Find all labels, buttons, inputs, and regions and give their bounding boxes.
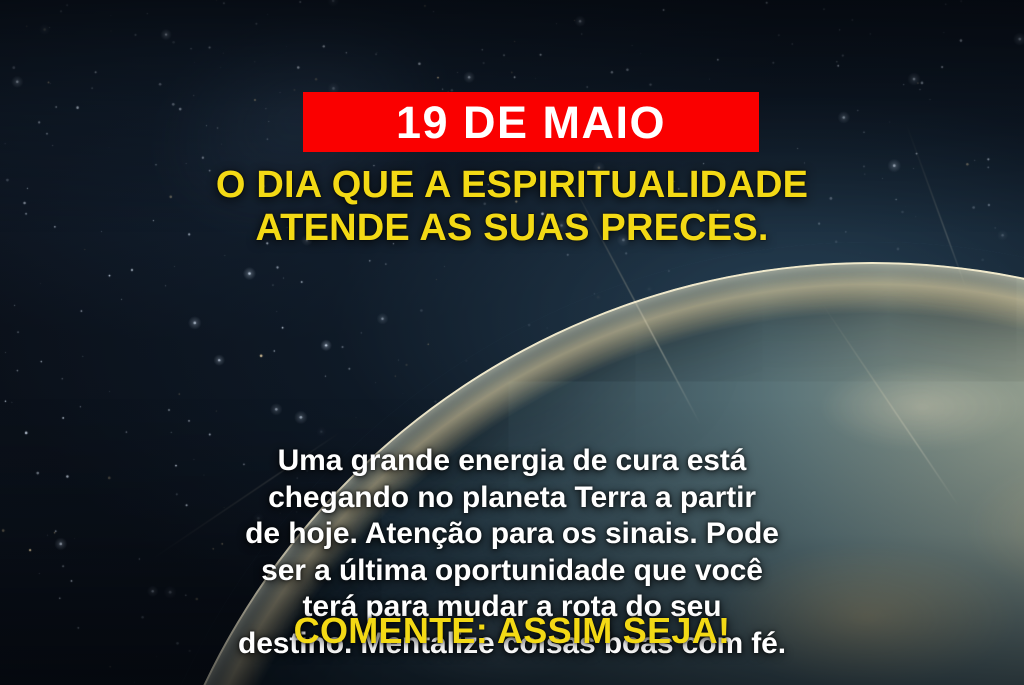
headline-line-2: ATENDE AS SUAS PRECES.	[0, 207, 1024, 250]
cta-text: COMENTE: ASSIM SEJA!	[294, 610, 731, 651]
date-banner-text: 19 DE MAIO	[396, 100, 666, 145]
headline-line-1: O DIA QUE A ESPIRITUALIDADE	[0, 164, 1024, 207]
call-to-action: COMENTE: ASSIM SEJA!	[0, 612, 1024, 650]
poster-content: 19 DE MAIO O DIA QUE A ESPIRITUALIDADE A…	[0, 0, 1024, 685]
headline: O DIA QUE A ESPIRITUALIDADE ATENDE AS SU…	[0, 164, 1024, 249]
body-line-3: de hoje. Atenção para os sinais. Pode	[52, 516, 972, 553]
body-line-1: Uma grande energia de cura está	[52, 443, 972, 480]
body-line-4: ser a última oportunidade que você	[52, 553, 972, 590]
date-banner: 19 DE MAIO	[303, 92, 759, 152]
inspirational-poster: 19 DE MAIO O DIA QUE A ESPIRITUALIDADE A…	[0, 0, 1024, 685]
body-line-2: chegando no planeta Terra a partir	[52, 480, 972, 517]
